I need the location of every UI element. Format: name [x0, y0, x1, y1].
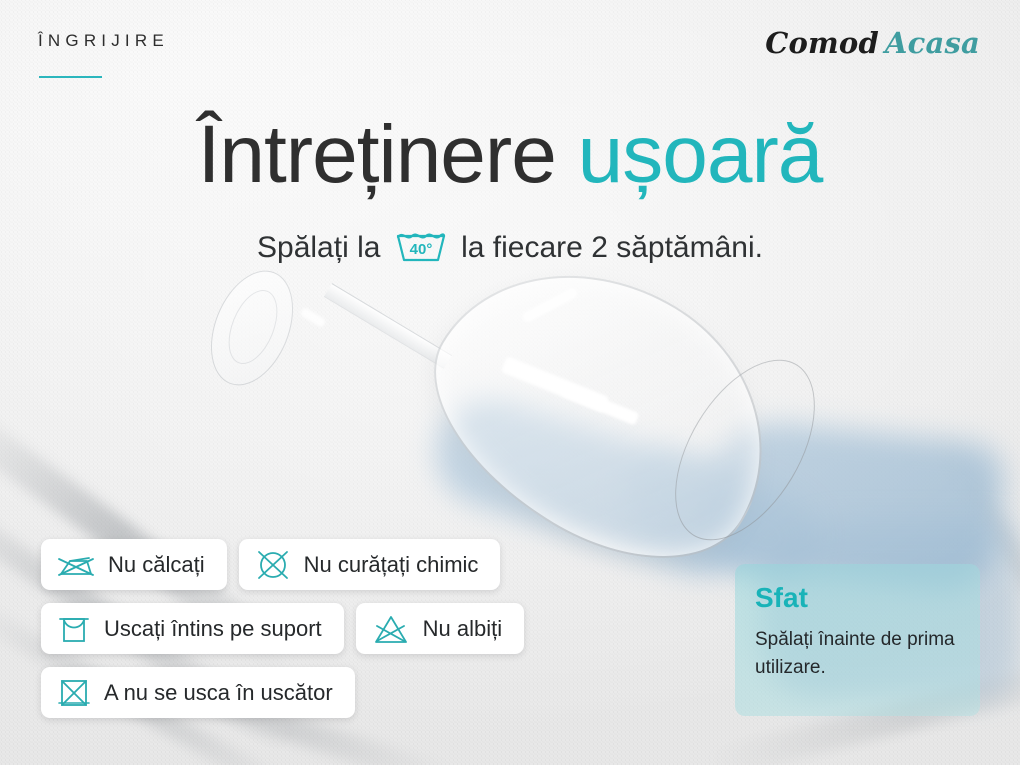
care-badge-do-not-iron[interactable]: Nu călcați	[41, 539, 227, 590]
wash-instruction: Spălați la 40° la fiecare 2 săptămâni.	[0, 228, 1020, 272]
tip-card-text: Spălați înainte de prima utilizare.	[755, 626, 960, 681]
care-badge-do-not-bleach[interactable]: Nu albiți	[356, 603, 524, 654]
wash-instruction-after: la fiecare 2 săptămâni.	[461, 231, 763, 264]
tip-card-title: Sfat	[755, 582, 960, 614]
do-not-iron-icon	[58, 550, 94, 580]
care-badge-label: Nu albiți	[423, 616, 502, 642]
care-badge-row: Uscați întins pe suport Nu albiți	[41, 603, 661, 654]
care-badge-list: Nu călcați Nu curățați chimic	[41, 539, 661, 731]
care-instructions-poster: ÎNGRIJIRE ComodAcasa Întreținere ușoară …	[0, 0, 1020, 765]
kicker-underline	[39, 76, 102, 78]
brand-logo: ComodAcasa	[765, 26, 980, 60]
care-badge-do-not-dry-clean[interactable]: Nu curățați chimic	[239, 539, 501, 590]
care-badge-do-not-tumble-dry[interactable]: A nu se usca în uscător	[41, 667, 355, 718]
brand-logo-primary: Comod	[765, 26, 879, 60]
tip-card: Sfat Spălați înainte de prima utilizare.	[735, 564, 980, 716]
svg-text:40°: 40°	[409, 241, 432, 258]
page-title-main: Întreținere	[198, 109, 556, 200]
do-not-bleach-icon	[373, 613, 409, 645]
care-badge-dry-flat[interactable]: Uscați întins pe suport	[41, 603, 344, 654]
poster-content: ÎNGRIJIRE ComodAcasa Întreținere ușoară …	[0, 0, 1020, 765]
wash-instruction-before: Spălați la	[257, 231, 380, 264]
wash-tub-40-icon: 40°	[394, 228, 448, 272]
care-badge-label: Uscați întins pe suport	[104, 616, 322, 642]
care-badge-row: A nu se usca în uscător	[41, 667, 661, 718]
do-not-dry-clean-icon	[256, 549, 290, 581]
care-badge-label: Nu călcați	[108, 552, 205, 578]
do-not-tumble-dry-icon	[58, 677, 90, 709]
section-kicker: ÎNGRIJIRE	[38, 31, 169, 51]
dry-flat-icon	[58, 613, 90, 645]
brand-logo-accent: Acasa	[885, 26, 980, 60]
care-badge-label: Nu curățați chimic	[304, 552, 479, 578]
page-title-accent: ușoară	[578, 109, 823, 200]
care-badge-label: A nu se usca în uscător	[104, 680, 333, 706]
page-title: Întreținere ușoară	[0, 114, 1020, 196]
care-badge-row: Nu călcați Nu curățați chimic	[41, 539, 661, 590]
